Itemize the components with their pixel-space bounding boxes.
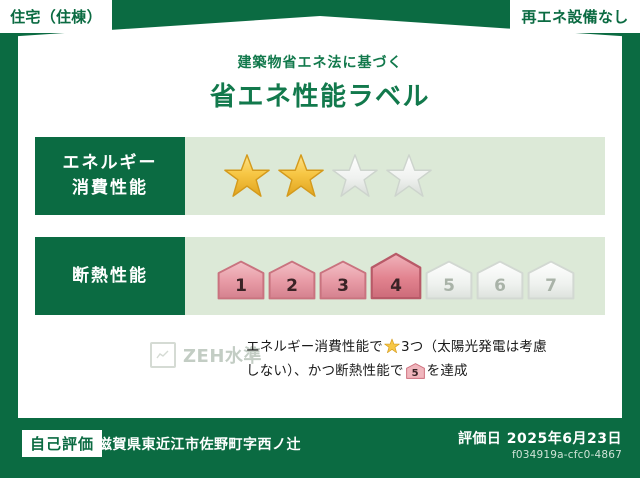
grade-house-6-number: 6 bbox=[476, 276, 524, 296]
grade-house-6: 6 bbox=[476, 260, 524, 300]
grade-house-5-number: 5 bbox=[425, 276, 473, 296]
tab-renewable-status-label: 再エネ設備なし bbox=[521, 6, 628, 27]
grade-house-2-number: 2 bbox=[268, 276, 316, 296]
tab-building-type-label: 住宅（住棟） bbox=[10, 6, 102, 27]
insulation-grade-scale: 1 2 3 bbox=[217, 252, 575, 300]
desc-part-2: 3つ（太陽光発電 bbox=[401, 339, 506, 355]
grade-house-5: 5 bbox=[425, 260, 473, 300]
grade-house-2: 2 bbox=[268, 260, 316, 300]
house-icon-inline-number: 5 bbox=[406, 369, 425, 379]
page-title: 省エネ性能ラベル bbox=[0, 76, 640, 113]
desc-part-4: を達成 bbox=[427, 363, 468, 379]
energy-performance-label-box: エネルギー 消費性能 bbox=[35, 137, 185, 215]
label-subtitle: 建築物省エネ法に基づく bbox=[0, 52, 640, 72]
star-icon-empty-4 bbox=[385, 152, 433, 200]
evaluation-id: f034919a-cfc0-4867 bbox=[512, 449, 622, 461]
label-footer: 自己評価 滋賀県東近江市佐野町字西ノ辻 評価日 2025年6月23日 f0349… bbox=[0, 418, 640, 478]
energy-label-line2: 消費性能 bbox=[72, 176, 148, 201]
grade-house-7: 7 bbox=[527, 260, 575, 300]
grade-house-1-number: 1 bbox=[217, 276, 265, 296]
tab-renewable-status[interactable]: 再エネ設備なし bbox=[510, 0, 640, 33]
grade-house-7-number: 7 bbox=[527, 276, 575, 296]
zeh-house-icon bbox=[150, 342, 176, 368]
energy-performance-row: エネルギー 消費性能 bbox=[35, 137, 605, 215]
zeh-glyph-icon bbox=[156, 349, 170, 361]
grade-house-4-achieved: 4 bbox=[370, 252, 422, 300]
property-address: 滋賀県東近江市佐野町字西ノ辻 bbox=[98, 434, 301, 454]
grade-house-3: 3 bbox=[319, 260, 367, 300]
tab-building-type[interactable]: 住宅（住棟） bbox=[0, 0, 112, 33]
grade-house-1: 1 bbox=[217, 260, 265, 300]
star-icon-filled-1 bbox=[223, 152, 271, 200]
self-evaluation-badge: 自己評価 bbox=[22, 430, 102, 457]
zeh-description: エネルギー消費性能で3つ（太陽光発電は考慮しない）、かつ断熱性能で5を達成 bbox=[246, 336, 556, 383]
star-rating bbox=[223, 152, 433, 200]
house-icon-inline: 5 bbox=[406, 363, 425, 379]
star-icon-inline bbox=[384, 338, 400, 354]
desc-part-1: エネルギー消費性能で bbox=[246, 339, 383, 355]
energy-performance-label: 住宅（住棟） 再エネ設備なし 建築物省エネ法に基づく 省エネ性能ラベル エネルギ… bbox=[0, 0, 640, 478]
insulation-performance-value: 1 2 3 bbox=[185, 237, 605, 315]
grade-house-3-number: 3 bbox=[319, 276, 367, 296]
star-icon-empty-3 bbox=[331, 152, 379, 200]
insulation-label-line1: 断熱性能 bbox=[72, 264, 148, 289]
grade-house-4-number: 4 bbox=[370, 276, 422, 296]
energy-label-line1: エネルギー bbox=[63, 151, 158, 176]
star-icon-filled-2 bbox=[277, 152, 325, 200]
evaluation-date: 評価日 2025年6月23日 bbox=[458, 428, 622, 448]
insulation-performance-row: 断熱性能 1 2 bbox=[35, 237, 605, 315]
energy-performance-value bbox=[185, 137, 605, 215]
insulation-performance-label-box: 断熱性能 bbox=[35, 237, 185, 315]
